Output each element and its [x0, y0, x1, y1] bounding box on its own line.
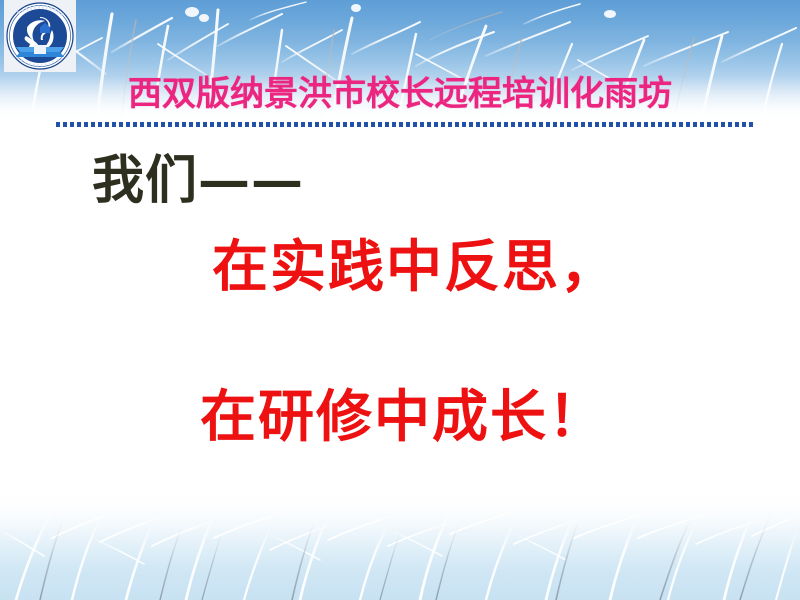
slogan-line-1: 在实践中反思， — [212, 232, 618, 302]
slogan-line-2: 在研修中成长！ — [200, 382, 606, 452]
dotted-divider — [56, 122, 756, 127]
bottom-photo-band — [0, 480, 800, 600]
bottom-band-fade — [0, 480, 800, 600]
school-emblem-logo — [4, 0, 76, 72]
lead-line-text: 我们—— — [92, 150, 304, 212]
emblem-icon — [4, 0, 76, 72]
page-title: 西双版纳景洪市校长远程培训化雨坊 — [0, 72, 800, 116]
presentation-slide: 西双版纳景洪市校长远程培训化雨坊 我们—— 在实践中反思， 在研修中成长！ — [0, 0, 800, 600]
